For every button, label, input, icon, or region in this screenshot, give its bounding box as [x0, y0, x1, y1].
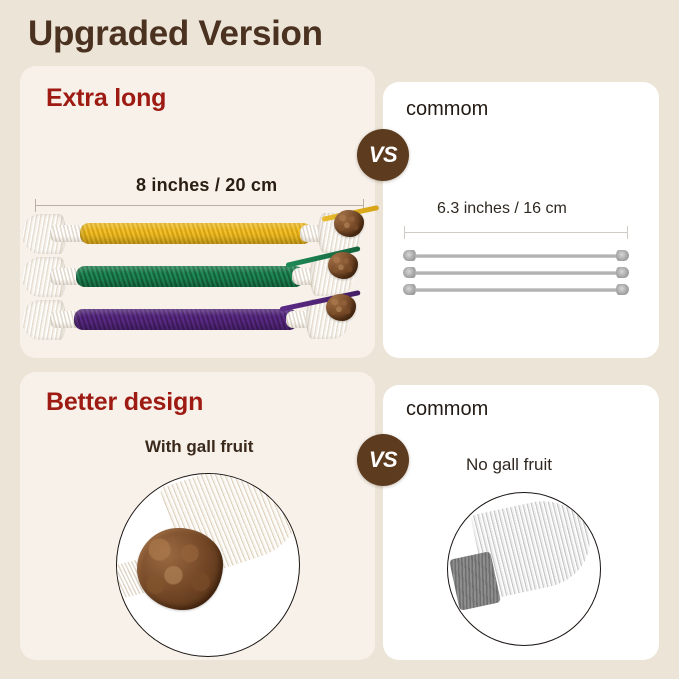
stick-shaft	[415, 254, 617, 258]
heading-common-design: commom	[406, 398, 488, 421]
stick-knot-right	[616, 250, 629, 261]
heading-extra-long: Extra long	[46, 84, 166, 113]
rope-toy-yellow	[22, 214, 374, 254]
gall-fruit-purple-rope	[326, 294, 356, 321]
rope-body-green	[76, 266, 304, 287]
photo-no-gall-fruit	[447, 492, 601, 646]
heading-common-length: commom	[406, 98, 488, 121]
caption-with-gall-fruit: With gall fruit	[145, 437, 253, 457]
heading-better-design: Better design	[46, 388, 203, 417]
photo-with-gall-fruit	[116, 473, 300, 657]
common-stick-2	[403, 267, 629, 278]
gall-fruit-closeup	[137, 528, 223, 610]
gall-fruit-yellow-rope	[334, 210, 364, 237]
rope-body-yellow	[80, 223, 312, 244]
measurement-label-common-length: 6.3 inches / 16 cm	[437, 200, 567, 218]
measure-line	[404, 232, 628, 233]
caption-no-gall-fruit: No gall fruit	[466, 455, 552, 475]
vs-badge-design: VS	[357, 434, 409, 486]
measure-cap-right	[627, 226, 628, 239]
common-stick-3	[403, 284, 629, 295]
measurement-label-upgraded-length: 8 inches / 20 cm	[136, 175, 277, 196]
stick-knot-right	[616, 267, 629, 278]
card-common-length	[383, 82, 659, 358]
infographic-page: Upgraded Version Extra long 8 inches / 2…	[0, 0, 679, 679]
rope-body-purple	[74, 309, 298, 330]
gall-fruit-green-rope	[328, 252, 358, 279]
rope-toy-green	[22, 257, 374, 297]
vs-badge-length: VS	[357, 129, 409, 181]
rope-toy-purple	[22, 300, 374, 340]
page-title: Upgraded Version	[28, 13, 323, 55]
stick-shaft	[415, 288, 617, 292]
common-stick-1	[403, 250, 629, 261]
stick-shaft	[415, 271, 617, 275]
measurement-bar-common	[404, 226, 628, 239]
stick-knot-right	[616, 284, 629, 295]
measure-line	[35, 205, 364, 206]
measurement-bar-upgraded	[35, 199, 364, 212]
